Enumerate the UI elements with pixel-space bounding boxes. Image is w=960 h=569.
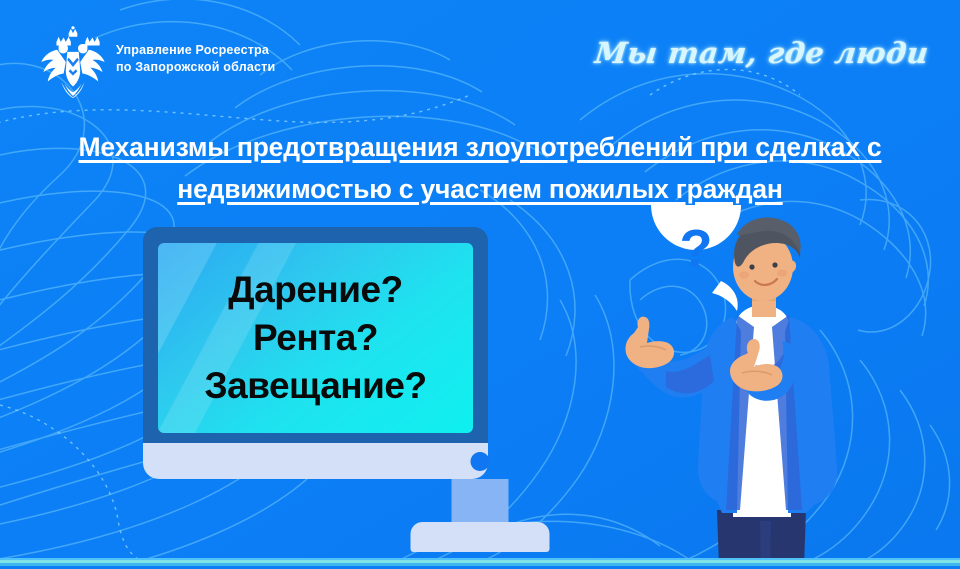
monitor-power-dot-icon xyxy=(471,452,490,471)
svg-text:?: ? xyxy=(680,219,713,279)
speech-bubble-icon: ? xyxy=(651,205,741,311)
hand-left-pointing xyxy=(625,317,674,369)
page-title: Механизмы предотвращения злоупотреблений… xyxy=(0,126,960,210)
organization-name: Управление Росреестра по Запорожской обл… xyxy=(116,42,275,76)
rosreestr-crest-icon xyxy=(36,26,110,98)
monitor-graphic: Дарение? Рента? Завещание? xyxy=(143,227,488,459)
poster-canvas: Управление Росреестра по Запорожской обл… xyxy=(0,0,960,569)
monitor-screen: Дарение? Рента? Завещание? xyxy=(158,243,473,433)
cheek-right xyxy=(777,270,787,277)
footer-accent-strip xyxy=(0,558,960,569)
organization-name-line2: по Запорожской области xyxy=(116,59,275,76)
page-title-line1: Механизмы предотвращения злоупотреблений… xyxy=(79,126,882,168)
header-bar: Управление Росреестра по Запорожской обл… xyxy=(0,0,960,112)
ear xyxy=(789,261,796,273)
monitor-neck xyxy=(452,479,509,524)
page-title-line2: недвижимостью с участием пожилых граждан xyxy=(177,168,782,210)
monitor-foot xyxy=(411,522,550,552)
eye-right xyxy=(772,262,777,267)
person-illustration: ? xyxy=(600,205,960,569)
screen-line-1: Дарение? xyxy=(158,266,473,314)
monitor-screen-text: Дарение? Рента? Завещание? xyxy=(158,266,473,410)
slogan-text: Мы там, где люди xyxy=(593,36,930,70)
eye-left xyxy=(749,264,754,269)
screen-line-2: Рента? xyxy=(158,314,473,362)
screen-line-3: Завещание? xyxy=(158,362,473,410)
organization-name-line1: Управление Росреестра xyxy=(116,42,275,59)
cheek-left xyxy=(739,272,749,279)
monitor-base xyxy=(143,443,488,479)
